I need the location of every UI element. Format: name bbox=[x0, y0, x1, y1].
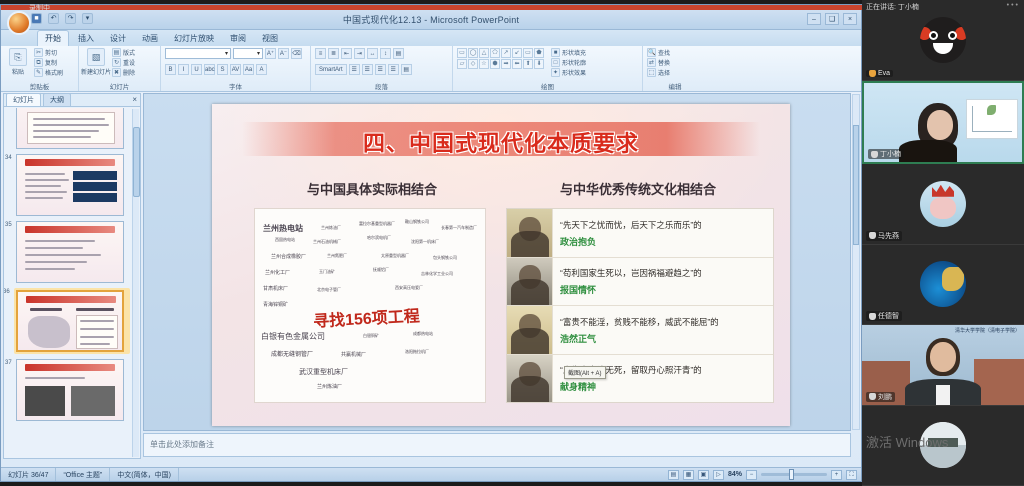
new-slide-button[interactable]: ▧ 新建幻灯片 bbox=[83, 48, 109, 76]
line-spacing-button[interactable]: ↔ bbox=[367, 48, 378, 59]
participant-name-tag: 马先燕 bbox=[866, 231, 902, 241]
group-label-editing: 编辑 bbox=[643, 81, 707, 91]
quote-tag: 政治抱负 bbox=[560, 235, 768, 248]
wordcloud-word: 白银有色金属公司 bbox=[261, 331, 325, 342]
wordcloud-word: 长春第一汽车制造厂 bbox=[441, 225, 477, 231]
participant-name-tag: 任德智 bbox=[866, 311, 902, 321]
ribbon-group-font: ▾ ▾ A⁺ A⁻ ⌫ B I U abc bbox=[161, 46, 311, 91]
portrait-image bbox=[507, 209, 553, 257]
participant-tile[interactable]: 激活 Windows bbox=[862, 406, 1024, 486]
shape-pentagon-icon[interactable]: ⬠ bbox=[490, 48, 500, 58]
portrait-image bbox=[507, 258, 553, 306]
shape-fill-button[interactable]: ■ 形状填充 bbox=[551, 48, 586, 57]
format-painter-button[interactable]: ✎ 格式刷 bbox=[34, 68, 63, 77]
slide-counter: 幻灯片 36/47 bbox=[1, 468, 56, 481]
watermark-line1: 激活 Windows bbox=[866, 435, 948, 450]
decrease-font-size-button[interactable]: A⁻ bbox=[278, 48, 289, 59]
shape-fill-label: 形状填充 bbox=[562, 48, 586, 57]
quote-text: “苟利国家生死以，岂因祸福避趋之”的 bbox=[560, 268, 768, 279]
subtitle-right: 与中华优秀传统文化相结合 bbox=[504, 179, 772, 198]
decrease-indent-button[interactable]: ⇤ bbox=[341, 48, 352, 59]
slide-thumbnail-pane: 幻灯片 大纲 × 33 bbox=[3, 93, 141, 459]
sorter-view-button[interactable]: ▦ bbox=[683, 470, 694, 480]
avatar bbox=[920, 181, 966, 227]
slide-thumbnail[interactable] bbox=[16, 290, 124, 352]
ribbon: ⎘ 粘贴 ✂ 剪切 ⧉ 复制 ✎ bbox=[1, 46, 861, 92]
zoom-out-button[interactable]: − bbox=[746, 470, 757, 480]
align-right-button[interactable]: ☰ bbox=[375, 64, 386, 75]
change-case-button[interactable]: Aa bbox=[243, 64, 254, 75]
select-icon: ⬚ bbox=[647, 68, 656, 77]
fit-to-window-button[interactable]: ⛶ bbox=[846, 470, 857, 480]
delete-label: 删除 bbox=[123, 68, 135, 77]
group-label-slides: 幻灯片 bbox=[79, 81, 160, 91]
slide-area-scrollbar[interactable] bbox=[852, 94, 860, 430]
justify-button[interactable]: ☰ bbox=[388, 64, 399, 75]
paste-button[interactable]: ⎘ 粘贴 bbox=[5, 48, 31, 76]
wordcloud-word: 西安高压电瓷厂 bbox=[395, 285, 423, 291]
shape-outline-button[interactable]: □ 形状轮廓 bbox=[551, 58, 586, 67]
wordcloud-word: 白银铜矿 bbox=[363, 333, 379, 339]
participant-name-tag: 丁小楠 bbox=[868, 149, 904, 159]
tab-home[interactable]: 开始 bbox=[37, 30, 69, 46]
wordcloud-word: 富拉尔基重型机器厂 bbox=[359, 221, 395, 227]
shape-arrow-up-icon[interactable]: ⬆ bbox=[523, 59, 533, 69]
thumbnail-scrollbar[interactable] bbox=[132, 109, 139, 457]
quote-text: “先天下之忧而忧，后天下之乐而乐”的 bbox=[560, 220, 768, 231]
slide-thumbnail[interactable] bbox=[16, 108, 124, 149]
wordcloud-word: 洛阳拖拉机厂 bbox=[405, 349, 429, 355]
bold-button[interactable]: B bbox=[165, 64, 176, 75]
chevron-down-icon: ▾ bbox=[225, 50, 228, 57]
avatar bbox=[920, 17, 966, 63]
copy-icon: ⧉ bbox=[34, 58, 43, 67]
participant-tile[interactable]: 任德智 bbox=[862, 245, 1024, 326]
zoom-slider[interactable] bbox=[761, 473, 827, 476]
layout-button[interactable]: ▤ 版式 bbox=[112, 48, 135, 57]
shape-parallelogram-icon[interactable]: ▱ bbox=[457, 59, 467, 69]
delete-icon: ✖ bbox=[112, 68, 121, 77]
paste-label: 粘贴 bbox=[12, 67, 24, 76]
wordcloud-word: 甘肃机床厂 bbox=[263, 285, 288, 292]
clear-formatting-button[interactable]: ⌫ bbox=[291, 48, 302, 59]
zoom-in-button[interactable]: + bbox=[831, 470, 842, 480]
minimize-button[interactable]: – bbox=[807, 13, 821, 25]
speaking-indicator: 正在讲话: 丁小楠 bbox=[866, 2, 919, 12]
close-icon[interactable]: × bbox=[132, 95, 137, 104]
group-label-drawing: 绘图 bbox=[453, 81, 642, 91]
quote-tag: 浩然正气 bbox=[560, 332, 768, 345]
reading-view-button[interactable]: ▣ bbox=[698, 470, 709, 480]
layout-icon: ▤ bbox=[112, 48, 121, 57]
participant-tile[interactable]: 马先燕 bbox=[862, 164, 1024, 245]
microphone-icon bbox=[869, 313, 876, 320]
scrollbar-thumb[interactable] bbox=[853, 125, 859, 245]
shape-arrow-left-icon[interactable]: ⬅ bbox=[512, 59, 522, 69]
slideshow-view-button[interactable]: ▷ bbox=[713, 470, 724, 480]
shape-gallery[interactable]: ▭ ◯ △ ⬠ ↗ ↙ ▭ ⬟ ▱ ◇ ☆ ⬢ ➡ ⬅ ⬆ bbox=[457, 48, 544, 69]
shape-effects-button[interactable]: ✦ 形状效果 bbox=[551, 68, 586, 77]
list-item[interactable]: 37 bbox=[16, 359, 130, 421]
delete-slide-button[interactable]: ✖ 删除 bbox=[112, 68, 135, 77]
ribbon-group-slides: ▧ 新建幻灯片 ▤ 版式 ↻ 重设 ✖ bbox=[79, 46, 161, 91]
slide-number: 36 bbox=[4, 289, 10, 295]
shape-arrow-down-icon[interactable]: ⬇ bbox=[534, 59, 544, 69]
participant-name: 马先燕 bbox=[878, 231, 899, 241]
subtitle-left: 与中国具体实际相结合 bbox=[246, 179, 498, 198]
microphone-icon bbox=[869, 232, 876, 239]
wordcloud-word: 兰州石油机械厂 bbox=[313, 239, 341, 245]
participant-name: 任德智 bbox=[878, 311, 899, 321]
list-item[interactable]: “苟利国家生死以，岂因祸福避趋之”的 报国情怀 bbox=[507, 258, 773, 307]
new-slide-label: 新建幻灯片 bbox=[81, 67, 111, 76]
scrollbar-thumb[interactable] bbox=[133, 127, 140, 197]
ribbon-tab-bar: 开始 插入 设计 动画 幻灯片放映 审阅 视图 bbox=[1, 30, 861, 46]
font-color-button[interactable]: A bbox=[256, 64, 267, 75]
underline-button[interactable]: U bbox=[191, 64, 202, 75]
shape-arrow-up-right-icon[interactable]: ↗ bbox=[501, 48, 511, 58]
wordcloud-word: 兰州合成橡胶厂 bbox=[271, 253, 306, 260]
character-spacing-button[interactable]: AV bbox=[230, 64, 241, 75]
ribbon-group-editing: 🔍 查找 ⇄ 替换 ⬚ 选择 编辑 bbox=[643, 46, 707, 91]
slide-thumbnail[interactable] bbox=[16, 359, 124, 421]
list-item[interactable]: “先天下之忧而忧，后天下之乐而乐”的 政治抱负 bbox=[507, 209, 773, 258]
participant-tile[interactable]: 正在讲话: 丁小楠 ••• Eva bbox=[862, 0, 1024, 81]
thumbnail-list[interactable]: 33 34 bbox=[4, 108, 140, 458]
status-right: ▤ ▦ ▣ ▷ 84% − + ⛶ bbox=[668, 470, 861, 480]
quote-tag: 献身精神 bbox=[560, 380, 768, 393]
group-label-clipboard: 剪贴板 bbox=[1, 81, 78, 91]
tab-slides[interactable]: 幻灯片 bbox=[6, 93, 41, 106]
microphone-icon bbox=[869, 70, 876, 77]
find-label: 查找 bbox=[658, 48, 670, 57]
italic-button[interactable]: I bbox=[178, 64, 189, 75]
ribbon-group-paragraph: ≡ ≣ ⇤ ⇥ ↔ ↕ ▤ SmartArt ☰ ☰ ☰ ☰ ▤ bbox=[311, 46, 453, 91]
shape-hexagon-icon[interactable]: ⬟ bbox=[534, 48, 544, 58]
align-center-button[interactable]: ☰ bbox=[362, 64, 373, 75]
portrait-image bbox=[507, 355, 553, 403]
wordcloud-word: 玉门油矿 bbox=[319, 269, 335, 275]
ribbon-group-clipboard: ⎘ 粘贴 ✂ 剪切 ⧉ 复制 ✎ bbox=[1, 46, 79, 91]
wordcloud-word: 兰州热电站 bbox=[263, 223, 303, 234]
chevron-down-icon: ▾ bbox=[257, 50, 260, 57]
quotes-panel[interactable]: “先天下之忧而忧，后天下之乐而乐”的 政治抱负 “苟利国家生死以，岂因祸福避趋之… bbox=[506, 208, 774, 403]
shape-oval-icon[interactable]: ◯ bbox=[468, 48, 478, 58]
tab-animations[interactable]: 动画 bbox=[135, 31, 165, 46]
ribbon-group-drawing: ▭ ◯ △ ⬠ ↗ ↙ ▭ ⬟ ▱ ◇ ☆ ⬢ ➡ ⬅ ⬆ bbox=[453, 46, 643, 91]
select-button[interactable]: ⬚ 选择 bbox=[647, 68, 670, 77]
office-orb-button[interactable] bbox=[7, 11, 31, 35]
status-bar: 幻灯片 36/47 “Office 主题” 中文(简体，中国) ▤ ▦ ▣ ▷ … bbox=[1, 467, 861, 481]
notes-pane[interactable]: 单击此处添加备注 bbox=[143, 433, 851, 457]
outline-icon: □ bbox=[551, 58, 560, 67]
microphone-icon bbox=[869, 393, 876, 400]
brush-icon: ✎ bbox=[34, 68, 43, 77]
reset-icon: ↻ bbox=[112, 58, 121, 67]
participant-name-tag: 刘鹏 bbox=[866, 392, 895, 402]
language-indicator[interactable]: 中文(简体，中国) bbox=[110, 468, 179, 481]
current-slide[interactable]: 四、中国式现代化本质要求 与中国具体实际相结合 与中华优秀传统文化相结合 兰州热… bbox=[212, 104, 790, 426]
wordcloud-word: 成都无缝钢管厂 bbox=[271, 349, 313, 358]
windows-activation-watermark: 激活 Windows bbox=[866, 432, 948, 451]
group-label-paragraph: 段落 bbox=[311, 81, 452, 91]
tab-design[interactable]: 设计 bbox=[103, 31, 133, 46]
effects-icon: ✦ bbox=[551, 68, 560, 77]
wordcloud-word: 吉林化学工业公司 bbox=[421, 271, 453, 277]
numbering-button[interactable]: ≣ bbox=[328, 48, 339, 59]
wordcloud-word: 抚顺铝厂 bbox=[373, 267, 389, 273]
shape-outline-label: 形状轮廓 bbox=[562, 58, 586, 67]
text-direction-button[interactable]: ↕ bbox=[380, 48, 391, 59]
wordcloud: 兰州热电站 兰州炼油厂 富拉尔基重型机器厂 鞍山钢铁公司 长春第一汽车制造厂 西… bbox=[255, 209, 485, 402]
quote-tag: 报国情怀 bbox=[560, 283, 768, 296]
strikethrough-button[interactable]: S bbox=[217, 64, 228, 75]
shape-triangle-icon[interactable]: △ bbox=[479, 48, 489, 58]
cut-button[interactable]: ✂ 剪切 bbox=[34, 48, 63, 57]
slide-number: 37 bbox=[5, 360, 12, 366]
group-label-font: 字体 bbox=[161, 81, 310, 91]
tab-slideshow[interactable]: 幻灯片放映 bbox=[167, 31, 221, 46]
list-item[interactable]: 36 bbox=[14, 288, 130, 354]
window-controls: – ❑ × bbox=[807, 13, 857, 25]
paste-icon: ⎘ bbox=[9, 48, 27, 66]
align-left-button[interactable]: ☰ bbox=[349, 64, 360, 75]
columns-button[interactable]: ▤ bbox=[401, 64, 412, 75]
bullets-button[interactable]: ≡ bbox=[315, 48, 326, 59]
participant-tile[interactable]: 清华大学学院（清电子学院） 刘鹏 bbox=[862, 325, 1024, 406]
close-button[interactable]: × bbox=[843, 13, 857, 25]
wordcloud-word: 包头钢铁公司 bbox=[433, 255, 457, 261]
wordcloud-word: 兰州氮肥厂 bbox=[327, 253, 347, 259]
scissors-icon: ✂ bbox=[34, 48, 43, 57]
reset-label: 重设 bbox=[123, 58, 135, 67]
wordcloud-word: 太原重型机器厂 bbox=[381, 253, 409, 259]
copy-label: 复制 bbox=[45, 58, 57, 67]
shape-rectangle-icon[interactable]: ▭ bbox=[457, 48, 467, 58]
replace-button[interactable]: ⇄ 替换 bbox=[647, 58, 670, 67]
participant-name: 丁小楠 bbox=[880, 149, 901, 159]
screenshot-tooltip: 截图(Alt + A) bbox=[564, 366, 606, 379]
slide-editing-area[interactable]: 四、中国式现代化本质要求 与中国具体实际相结合 与中华优秀传统文化相结合 兰州热… bbox=[143, 93, 851, 431]
copy-button[interactable]: ⧉ 复制 bbox=[34, 58, 63, 67]
wordcloud-word: 兰州化工厂 bbox=[265, 269, 290, 276]
increase-font-size-button[interactable]: A⁺ bbox=[265, 48, 276, 59]
participant-name-tag: Eva bbox=[866, 70, 893, 77]
participant-name: Eva bbox=[878, 70, 890, 77]
title-bar: ■ ↶ ↷ ▾ 中国式现代化12.13 - Microsoft PowerPoi… bbox=[1, 10, 861, 30]
find-button[interactable]: 🔍 查找 bbox=[647, 48, 670, 57]
wordcloud-word: 西固热电站 bbox=[275, 237, 295, 243]
wordcloud-word: 兰州炼油厂 bbox=[317, 383, 342, 390]
wordcloud-word: 武汉重型机床厂 bbox=[299, 367, 348, 377]
tile-menu-icon[interactable]: ••• bbox=[1007, 2, 1020, 9]
shape-arrow-right-icon[interactable]: ➡ bbox=[501, 59, 511, 69]
shape-star-icon[interactable]: ☆ bbox=[479, 59, 489, 69]
avatar bbox=[920, 261, 966, 307]
portrait-image bbox=[507, 306, 553, 354]
thumbnail-pane-tabs: 幻灯片 大纲 × bbox=[4, 94, 140, 107]
video-caption: 清华大学学院（清电子学院） bbox=[955, 327, 1020, 334]
shape-octagon-icon[interactable]: ⬢ bbox=[490, 59, 500, 69]
slide-number: 34 bbox=[5, 155, 12, 161]
wordcloud-word: 鞍山钢铁公司 bbox=[405, 219, 429, 225]
screen: 录制中 ■ ↶ ↷ ▾ 中国式现代化12.13 - Microsoft Powe… bbox=[0, 0, 1024, 486]
quote-text: “富贵不能淫，贫贱不能移，威武不能屈”的 bbox=[560, 317, 768, 328]
convert-to-smartart-button[interactable]: SmartArt bbox=[315, 64, 347, 75]
wordcloud-word: 青海锌铜矿 bbox=[263, 301, 288, 308]
china-wordcloud-image[interactable]: 兰州热电站 兰州炼油厂 富拉尔基重型机器厂 鞍山钢铁公司 长春第一汽车制造厂 西… bbox=[254, 208, 486, 403]
slide-number: 35 bbox=[5, 222, 12, 228]
wordcloud-word: 沈阳第一机床厂 bbox=[411, 239, 439, 245]
tab-view[interactable]: 视图 bbox=[255, 31, 285, 46]
replace-label: 替换 bbox=[658, 58, 670, 67]
shape-effects-label: 形状效果 bbox=[562, 68, 586, 77]
font-size-input[interactable]: ▾ bbox=[233, 48, 263, 59]
restore-button[interactable]: ❑ bbox=[825, 13, 839, 25]
align-text-button[interactable]: ▤ bbox=[393, 48, 404, 59]
font-name-input[interactable]: ▾ bbox=[165, 48, 231, 59]
shape-rounded-rect-icon[interactable]: ▭ bbox=[523, 48, 533, 58]
wordcloud-word: 哈尔滨电机厂 bbox=[367, 235, 391, 241]
microphone-icon bbox=[871, 151, 878, 158]
zoom-level: 84% bbox=[728, 471, 742, 478]
slide-thumbnail[interactable] bbox=[16, 154, 124, 216]
participant-name: 刘鹏 bbox=[878, 392, 892, 402]
list-item[interactable]: 35 bbox=[16, 221, 130, 283]
select-label: 选择 bbox=[658, 68, 670, 77]
meeting-participants-panel: 正在讲话: 丁小楠 ••• Eva 丁小楠 bbox=[862, 0, 1024, 486]
wordcloud-word: 共赢机械厂 bbox=[341, 351, 366, 358]
replace-icon: ⇄ bbox=[647, 58, 656, 67]
normal-view-button[interactable]: ▤ bbox=[668, 470, 679, 480]
tab-outline[interactable]: 大纲 bbox=[43, 93, 71, 106]
tab-insert[interactable]: 插入 bbox=[71, 31, 101, 46]
list-item[interactable]: “富贵不能淫，贫贱不能移，威武不能屈”的 浩然正气 bbox=[507, 306, 773, 355]
slide-thumbnail[interactable] bbox=[16, 221, 124, 283]
format-painter-label: 格式刷 bbox=[45, 68, 63, 77]
new-slide-icon: ▧ bbox=[87, 48, 105, 66]
wordcloud-highlight: 寻找156项工程 bbox=[312, 302, 420, 332]
reset-button[interactable]: ↻ 重设 bbox=[112, 58, 135, 67]
increase-indent-button[interactable]: ⇥ bbox=[354, 48, 365, 59]
fill-icon: ■ bbox=[551, 48, 560, 57]
list-item[interactable]: “人生自古谁无死，留取丹心照汗青”的 献身精神 bbox=[507, 355, 773, 403]
tab-review[interactable]: 审阅 bbox=[223, 31, 253, 46]
layout-label: 版式 bbox=[123, 48, 135, 57]
cut-label: 剪切 bbox=[45, 48, 57, 57]
wordcloud-word: 北京电子管厂 bbox=[317, 287, 341, 293]
wordcloud-word: 兰州炼油厂 bbox=[321, 225, 341, 231]
shadow-button[interactable]: abc bbox=[204, 64, 215, 75]
shape-arrow-down-left-icon[interactable]: ↙ bbox=[512, 48, 522, 58]
list-item[interactable]: 33 bbox=[16, 108, 130, 149]
list-item[interactable]: 34 bbox=[16, 154, 130, 216]
window-title: 中国式现代化12.13 - Microsoft PowerPoint bbox=[1, 13, 861, 26]
powerpoint-window: 录制中 ■ ↶ ↷ ▾ 中国式现代化12.13 - Microsoft Powe… bbox=[0, 4, 862, 482]
theme-name[interactable]: “Office 主题” bbox=[56, 468, 110, 481]
shape-diamond-icon[interactable]: ◇ bbox=[468, 59, 478, 69]
wordcloud-word: 成都热电站 bbox=[413, 331, 433, 337]
page-title: 四、中国式现代化本质要求 bbox=[212, 126, 790, 158]
participant-tile[interactable]: 丁小楠 bbox=[862, 81, 1024, 165]
search-icon: 🔍 bbox=[647, 48, 656, 57]
